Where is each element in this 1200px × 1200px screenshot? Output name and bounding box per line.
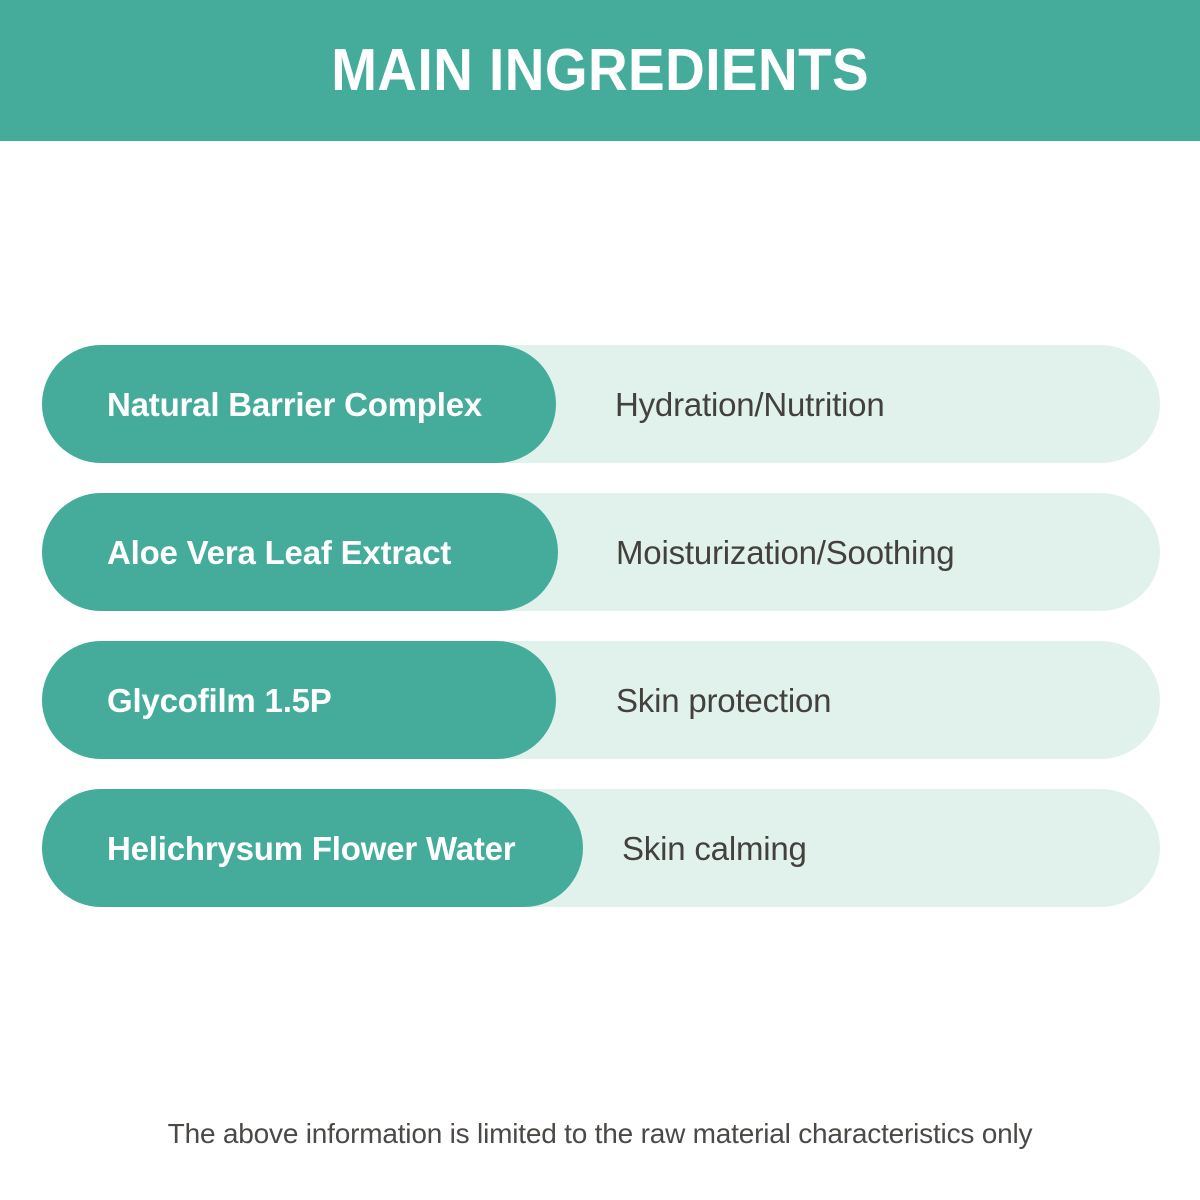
ingredient-benefit-label: Hydration/Nutrition [615, 388, 884, 421]
ingredient-benefit: Hydration/Nutrition [615, 345, 884, 463]
ingredient-row: Natural Barrier Complex Hydration/Nutrit… [42, 345, 1160, 463]
ingredient-list: Natural Barrier Complex Hydration/Nutrit… [0, 345, 1200, 907]
ingredient-name-pill: Glycofilm 1.5P [42, 641, 556, 759]
ingredients-infographic: MAIN INGREDIENTS Natural Barrier Complex… [0, 0, 1200, 1200]
ingredient-benefit: Skin protection [616, 641, 831, 759]
ingredient-row: Glycofilm 1.5P Skin protection [42, 641, 1160, 759]
ingredient-row: Aloe Vera Leaf Extract Moisturization/So… [42, 493, 1160, 611]
footnote-text: The above information is limited to the … [168, 1118, 1033, 1149]
ingredient-name-pill: Aloe Vera Leaf Extract [42, 493, 558, 611]
ingredient-benefit-label: Skin protection [616, 684, 831, 717]
header-bar: MAIN INGREDIENTS [0, 0, 1200, 141]
ingredient-benefit-label: Moisturization/Soothing [616, 536, 954, 569]
ingredient-name-pill: Natural Barrier Complex [42, 345, 556, 463]
ingredient-row: Helichrysum Flower Water Skin calming [42, 789, 1160, 907]
ingredient-benefit: Moisturization/Soothing [616, 493, 954, 611]
page-title: MAIN INGREDIENTS [331, 41, 869, 100]
ingredient-benefit-label: Skin calming [622, 832, 807, 865]
ingredient-name-label: Helichrysum Flower Water [107, 832, 515, 865]
ingredient-name-label: Aloe Vera Leaf Extract [107, 536, 451, 569]
ingredient-name-pill: Helichrysum Flower Water [42, 789, 583, 907]
ingredient-name-label: Natural Barrier Complex [107, 388, 482, 421]
footnote: The above information is limited to the … [0, 1117, 1200, 1151]
ingredient-name-label: Glycofilm 1.5P [107, 684, 332, 717]
ingredient-benefit: Skin calming [622, 789, 807, 907]
